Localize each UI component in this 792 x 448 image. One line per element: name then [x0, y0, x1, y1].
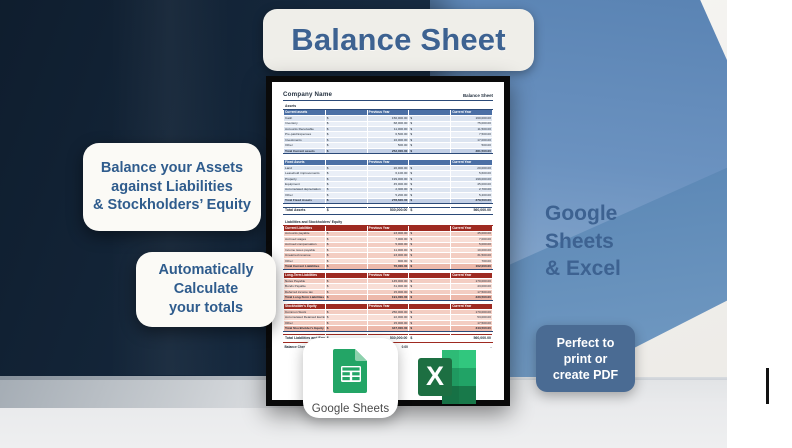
page-title: Balance Sheet: [291, 22, 506, 58]
balance-sheet-table[interactable]: AssetsCurrent assetsPrevious YearCurrent…: [283, 102, 493, 350]
grand-total-row: Total Assets$530,000.00$560,000.00: [284, 207, 493, 215]
document-kind-label: Balance Sheet: [463, 93, 493, 98]
callout-balance-assets: Balance your Assets against Liabilities …: [83, 143, 261, 231]
right-white-margin: [727, 0, 792, 448]
screenshot-root: Balance Sheet Company Name Balance Sheet…: [0, 0, 792, 448]
cell-label: Total Assets: [284, 207, 326, 215]
callout-auto-calculate: Automatically Calculate your totals: [136, 252, 276, 327]
cell-currency: $: [409, 207, 451, 215]
cell-previous: 530,000.00: [367, 207, 409, 215]
section-title-row: Assets: [284, 103, 493, 110]
callout-print-or-pdf: Perfect to print or create PDF: [536, 325, 635, 392]
callout-print-or-pdf-text: Perfect to print or create PDF: [553, 335, 618, 383]
page-title-chip: Balance Sheet: [263, 9, 534, 71]
google-sheets-label: Google Sheets: [312, 403, 389, 415]
company-name: Company Name: [283, 91, 332, 98]
section-title: Assets: [284, 103, 493, 110]
google-sheets-icon: [331, 347, 371, 400]
callout-google-sheets-excel: Google Sheets & Excel: [545, 200, 715, 283]
section-title-row: Liabilities and Stockholders' Equity: [284, 218, 493, 225]
svg-text:X: X: [426, 361, 444, 391]
cell-currency: $: [409, 335, 451, 343]
callout-balance-assets-text: Balance your Assets against Liabilities …: [93, 159, 251, 215]
cell-current: 560,000.00: [451, 335, 493, 343]
microsoft-excel-icon[interactable]: X: [416, 348, 478, 410]
cell-currency: $: [325, 207, 367, 215]
google-sheets-tile[interactable]: Google Sheets: [303, 338, 398, 418]
section-title: Liabilities and Stockholders' Equity: [284, 218, 493, 225]
document-header: Company Name Balance Sheet: [283, 91, 493, 98]
text-caret[interactable]: [766, 368, 769, 404]
floor-shadow: [0, 376, 300, 408]
balance-sheet-body: AssetsCurrent assetsPrevious YearCurrent…: [284, 103, 493, 350]
cell-current: 560,000.00: [451, 207, 493, 215]
callout-auto-calculate-text: Automatically Calculate your totals: [158, 261, 253, 318]
slide-scene: Balance Sheet Company Name Balance Sheet…: [0, 0, 727, 448]
